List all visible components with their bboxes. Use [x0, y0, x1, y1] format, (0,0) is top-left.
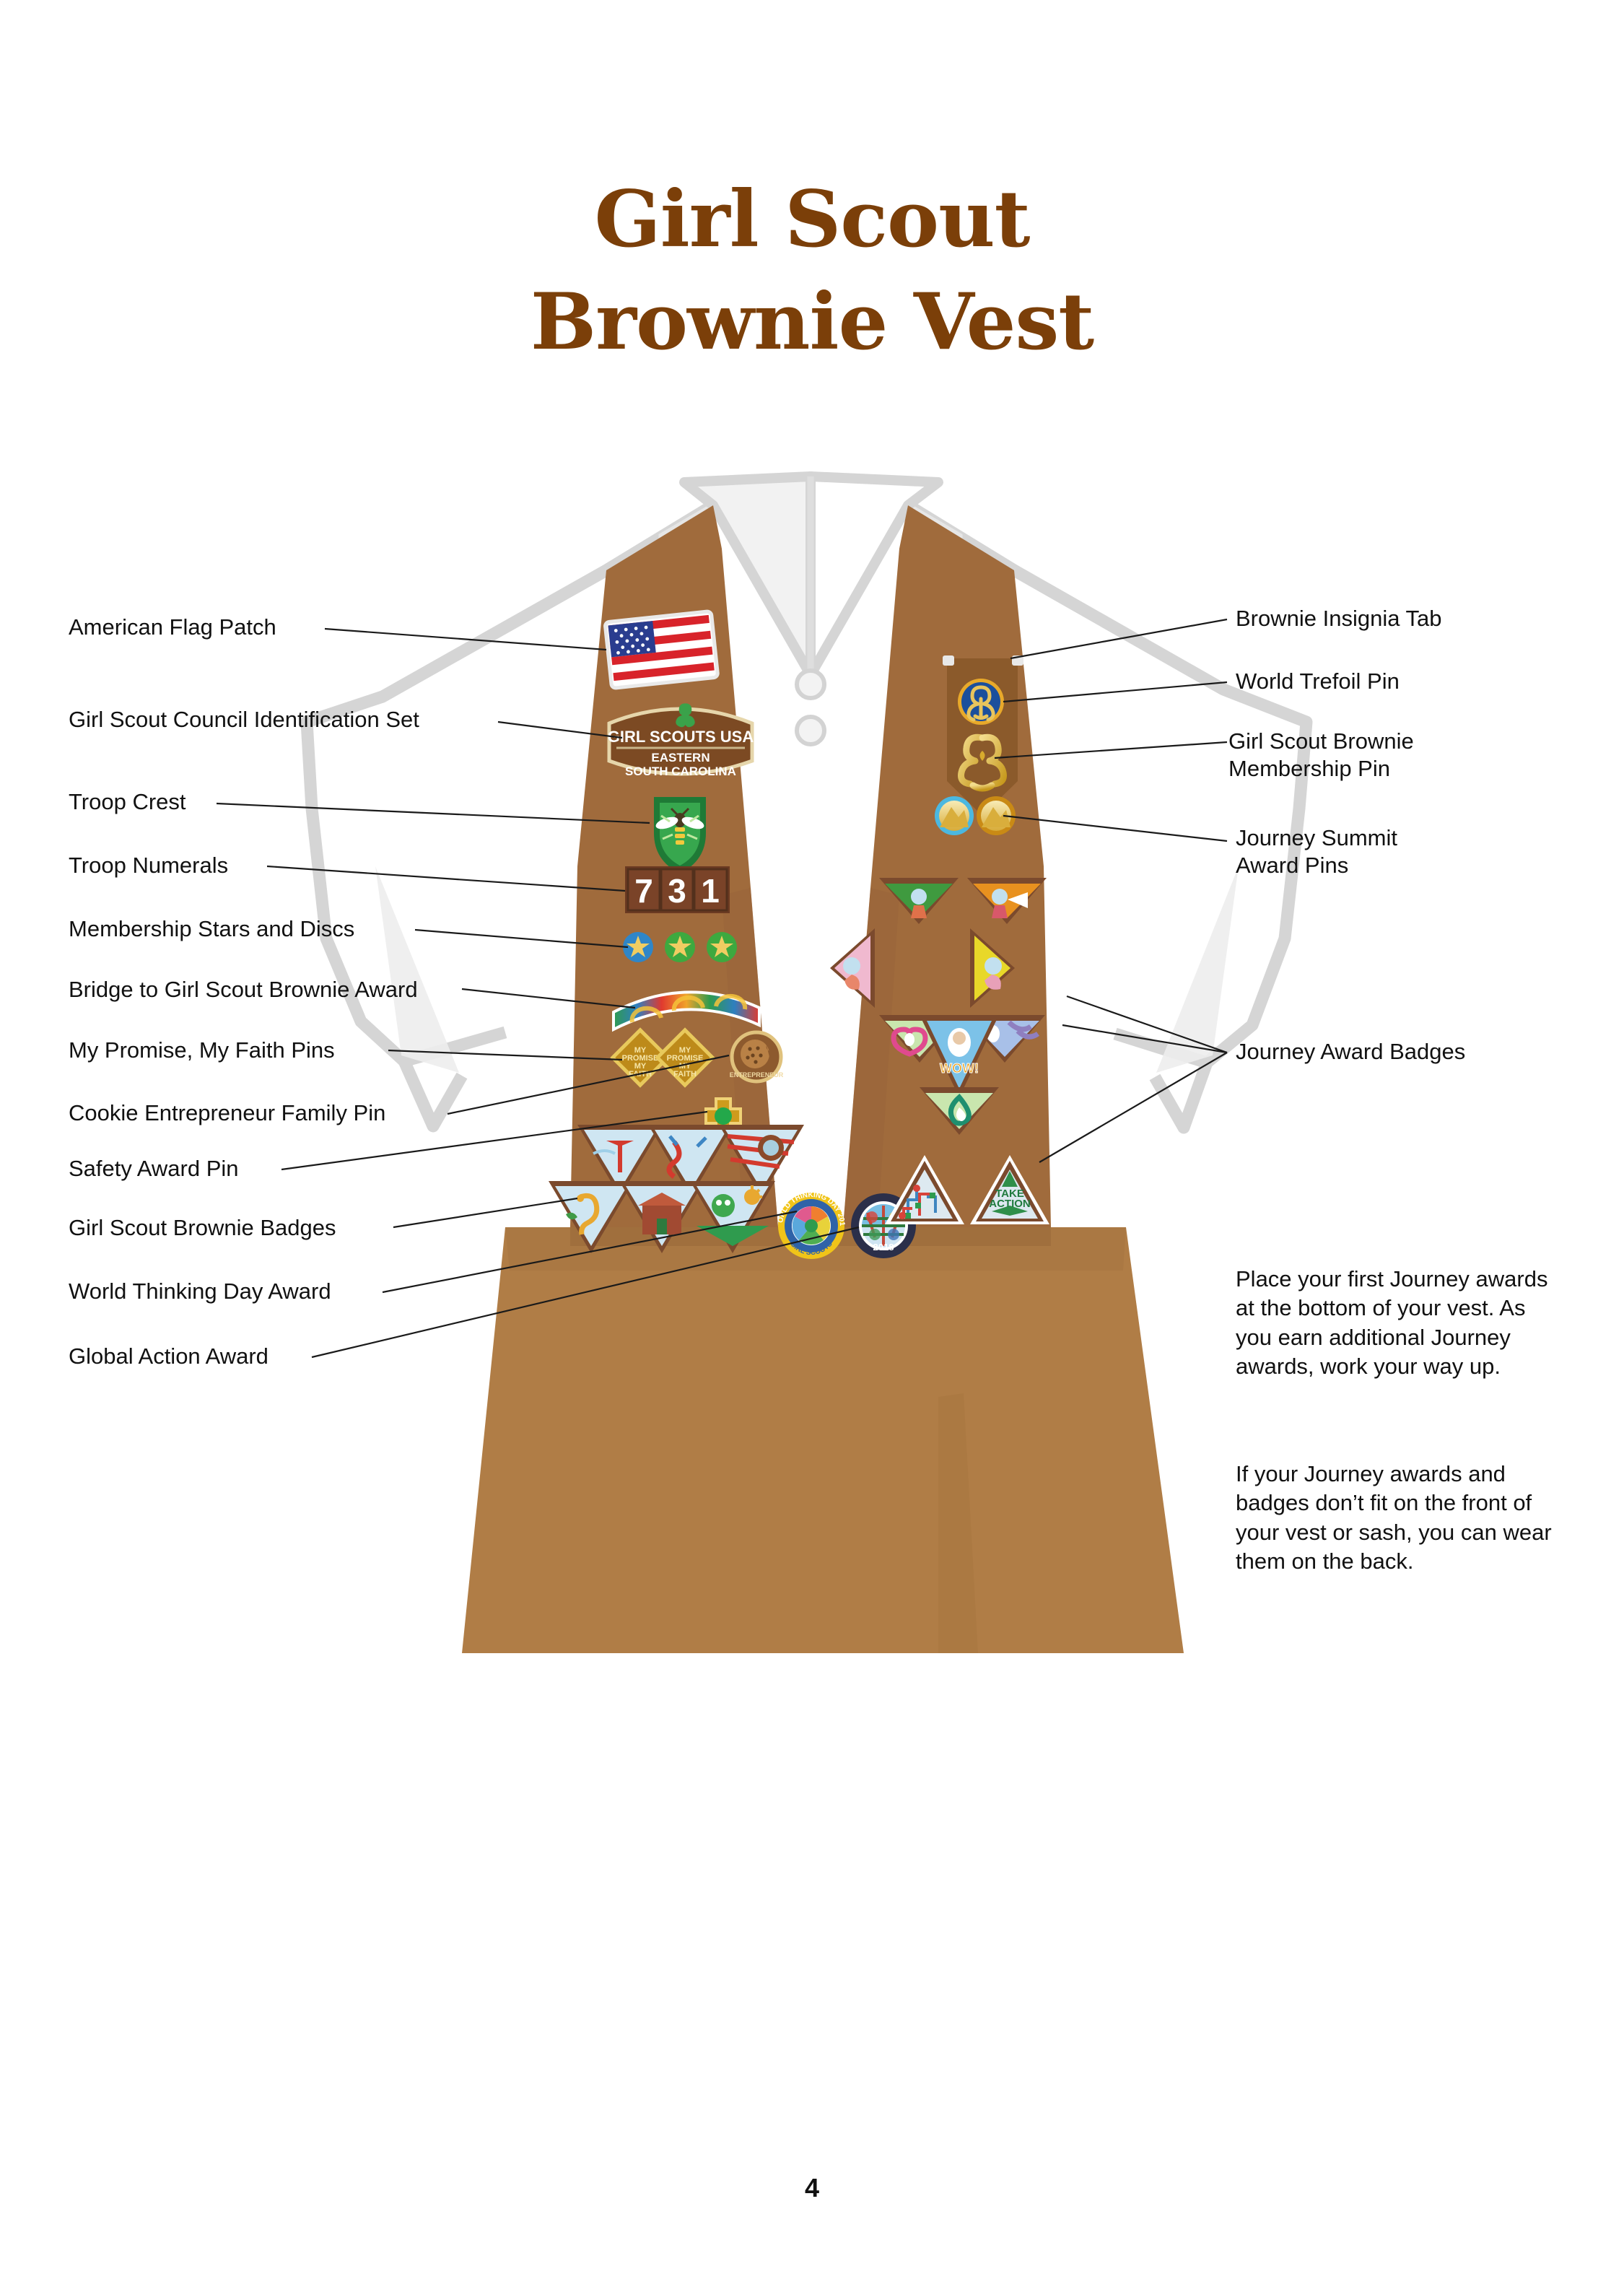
shirt-button [797, 671, 824, 698]
label-membership-stars-and-discs: Membership Stars and Discs [69, 915, 354, 943]
membership-stars-and-discs [623, 932, 737, 962]
council-patch-line3: SOUTH CAROLINA [625, 764, 736, 778]
brownie-membership-pin [961, 737, 1004, 788]
skirt [462, 1227, 1184, 1653]
troop-numeral-1: 3 [668, 872, 686, 910]
label-bridge-to-brownie-award: Bridge to Girl Scout Brownie Award [69, 976, 418, 1003]
label-brownie-insignia-tab: Brownie Insignia Tab [1236, 605, 1442, 632]
troop-numeral-0: 7 [634, 872, 653, 910]
label-troop-crest: Troop Crest [69, 788, 186, 816]
american-flag-patch [605, 611, 718, 689]
troop-numerals-patch: 7 3 1 [625, 866, 730, 913]
council-patch-line2: EASTERN [651, 751, 710, 764]
world-trefoil-pin [958, 679, 1004, 725]
label-world-thinking-day-award: World Thinking Day Award [69, 1278, 331, 1305]
label-journey-summit-pins: Journey Summit Award Pins [1236, 824, 1397, 879]
note-place-journey: Place your first Journey awards at the b… [1236, 1265, 1560, 1381]
shirt-button [797, 717, 824, 744]
take-action-line2: ACTION [989, 1198, 1031, 1210]
mp-pin1-l4: FAITH [673, 1070, 697, 1079]
label-cookie-entrepreneur-family-pin: Cookie Entrepreneur Family Pin [69, 1099, 385, 1127]
page-number: 4 [0, 2173, 1624, 2203]
label-world-trefoil-pin: World Trefoil Pin [1236, 668, 1400, 695]
label-safety-award-pin: Safety Award Pin [69, 1155, 239, 1182]
council-patch-line1: GIRL SCOUTS USA [608, 728, 754, 746]
journey-summit-pin-0 [935, 796, 974, 835]
label-troop-numerals: Troop Numerals [69, 852, 228, 879]
troop-numeral-2: 1 [701, 872, 720, 910]
label-my-promise-my-faith-pins: My Promise, My Faith Pins [69, 1037, 335, 1064]
cookie-pin-label: ENTREPRENEUR [730, 1071, 784, 1079]
note-wear-on-back: If your Journey awards and badges don’t … [1236, 1460, 1560, 1576]
page-root: Girl Scout Brownie Vest [0, 0, 1624, 2274]
vest-illustration: GIRL SCOUTS USA EASTERN SOUTH CAROLINA [0, 0, 1624, 2274]
label-journey-award-badges: Journey Award Badges [1236, 1038, 1465, 1066]
label-global-action-award: Global Action Award [69, 1343, 269, 1370]
membership-star-1 [665, 932, 695, 962]
label-american-flag-patch: American Flag Patch [69, 614, 276, 641]
cookie-entrepreneur-family-pin: ENTREPRENEUR [730, 1032, 784, 1081]
membership-star-2 [707, 932, 737, 962]
wow-patch-label: WOW! [940, 1061, 979, 1076]
label-brownie-badges: Girl Scout Brownie Badges [69, 1214, 336, 1242]
label-council-identification-set: Girl Scout Council Identification Set [69, 706, 419, 733]
global-action-year: 2018 [873, 1242, 894, 1253]
label-brownie-membership-pin: Girl Scout Brownie Membership Pin [1228, 728, 1414, 783]
